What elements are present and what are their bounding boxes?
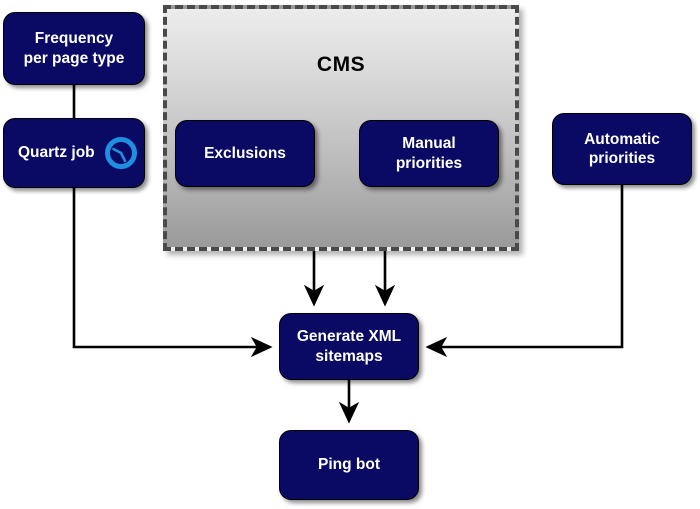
diagram-canvas: CMS Frequency per page typeQuartz jobExc… — [0, 0, 700, 509]
node-manual[interactable]: Manual priorities — [359, 120, 499, 187]
node-label-automatic: Automatic priorities — [584, 130, 660, 169]
node-frequency[interactable]: Frequency per page type — [3, 12, 145, 85]
node-exclusions[interactable]: Exclusions — [175, 120, 315, 187]
node-label-exclusions: Exclusions — [204, 144, 286, 163]
node-pingbot[interactable]: Ping bot — [279, 430, 419, 500]
clock-icon — [104, 136, 138, 170]
node-label-quartz: Quartz job — [18, 143, 95, 162]
container-title-cms: CMS — [167, 53, 515, 77]
node-label-manual: Manual priorities — [396, 134, 462, 173]
node-automatic[interactable]: Automatic priorities — [552, 113, 692, 185]
node-generate[interactable]: Generate XML sitemaps — [279, 313, 419, 380]
node-label-generate: Generate XML sitemaps — [297, 327, 401, 366]
node-quartz[interactable]: Quartz job — [3, 118, 145, 188]
node-label-frequency: Frequency per page type — [24, 29, 125, 68]
node-label-pingbot: Ping bot — [318, 455, 380, 474]
